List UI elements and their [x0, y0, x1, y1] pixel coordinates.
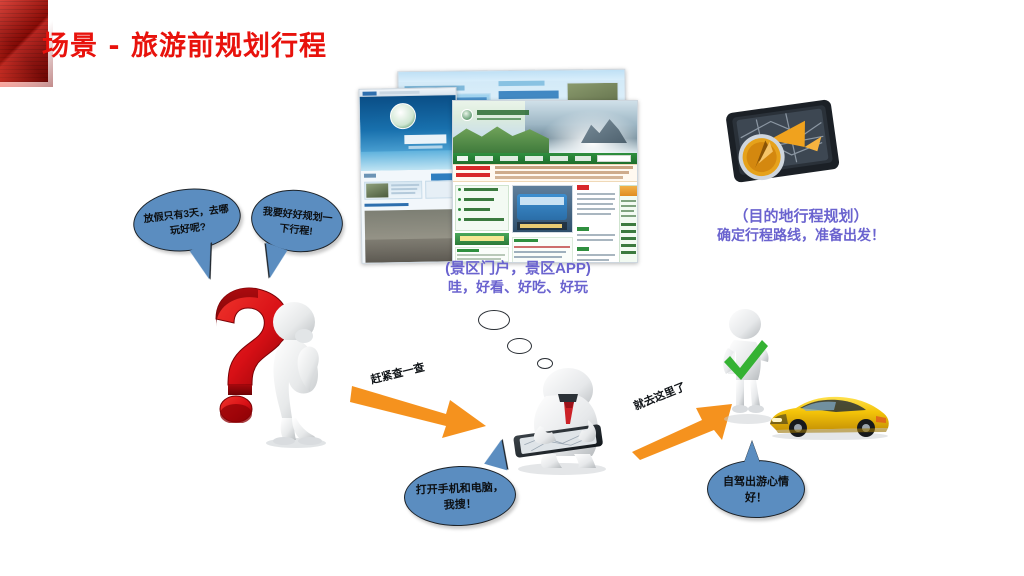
screenshot-blue-portal [358, 87, 459, 264]
bubble-holiday-3days-text: 放假只有3天，去哪玩好呢? [133, 199, 242, 242]
bubble-plan-trip-text: 我要好好规划一下行程! [251, 201, 344, 240]
bubble-happy-drive-text: 自驾出游心情好！ [708, 473, 804, 505]
yellow-sports-car [766, 388, 892, 440]
bubble-holiday-3days: 放假只有3天，去哪玩好呢? [130, 183, 245, 258]
gps-navigation-icon [712, 98, 854, 190]
caption-scenic-portal-line1: (景区门户，景区APP) [418, 260, 618, 279]
figure-thinking [258, 300, 336, 448]
bubble-tail [190, 242, 224, 282]
caption-scenic-portal-line2: 哇，好看、好吃、好玩 [418, 279, 618, 297]
thought-circle-large [478, 310, 510, 330]
caption-destination-planning-line1: （目的地行程规划） [672, 208, 930, 227]
bubble-tail [744, 441, 760, 463]
caption-destination-planning-line2: 确定行程路线，准备出发！ [672, 227, 930, 245]
thought-circle-medium [507, 338, 532, 354]
accent-red-block [0, 0, 48, 82]
slide-canvas: 场景 - 旅游前规划行程 [0, 0, 1024, 576]
caption-scenic-portal: (景区门户，景区APP) 哇，好看、好吃、好玩 [418, 260, 618, 296]
caption-destination-planning: （目的地行程规划） 确定行程路线，准备出发！ [672, 208, 930, 244]
bubble-happy-drive: 自驾出游心情好！ [707, 460, 805, 518]
bubble-open-phone: 打开手机和电脑，我搜！ [403, 464, 517, 528]
bubble-tail [255, 243, 288, 281]
bubble-plan-trip: 我要好好规划一下行程! [248, 185, 346, 256]
figure-using-tablet [500, 368, 622, 476]
bubble-open-phone-text: 打开手机和电脑，我搜！ [404, 478, 515, 514]
page-title: 场景 - 旅游前规划行程 [42, 24, 327, 63]
arrow-search-now-icon [350, 378, 490, 440]
screenshot-huangshan-portal [452, 100, 638, 263]
